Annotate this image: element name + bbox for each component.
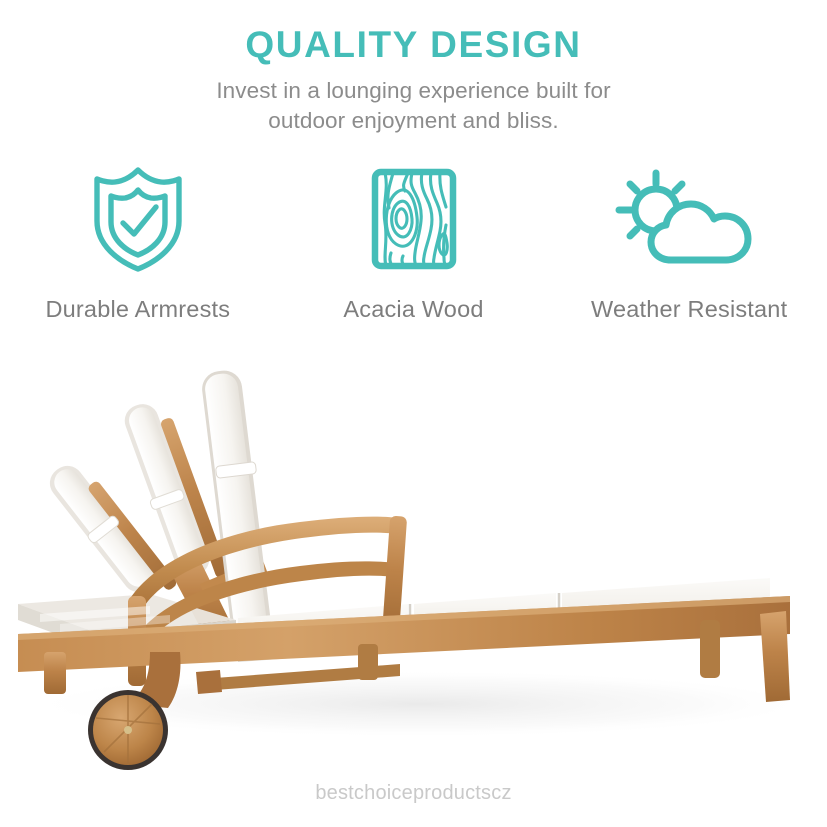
leg-front-left (44, 652, 66, 694)
feature-label-acacia-wood: Acacia Wood (343, 296, 483, 323)
subtitle-line-1: Invest in a lounging experience built fo… (216, 78, 610, 103)
wood-grain-icon (360, 163, 468, 275)
brand-watermark: bestchoiceproductscz (0, 782, 827, 805)
feature-item-weather-resistant: Weather Resistant (551, 163, 827, 323)
footer-block: bestchoiceproductscz (0, 782, 827, 805)
page-subtitle: Invest in a lounging experience built fo… (0, 76, 827, 135)
sun-cloud-icon (609, 163, 769, 275)
leg-rear-inner (700, 620, 720, 678)
feature-label-durable-armrests: Durable Armrests (45, 296, 230, 323)
feature-label-weather-resistant: Weather Resistant (591, 296, 787, 323)
shield-check-icon (86, 163, 190, 275)
feature-list: Durable Armrests (0, 163, 827, 323)
product-image (0, 352, 827, 782)
feature-item-durable-armrests: Durable Armrests (0, 163, 276, 323)
page-title: QUALITY DESIGN (0, 26, 827, 65)
subtitle-line-2: outdoor enjoyment and bliss. (268, 108, 558, 133)
wheel-hub (124, 726, 132, 734)
product-feature-card: QUALITY DESIGN Invest in a lounging expe… (0, 0, 827, 827)
header-block: QUALITY DESIGN Invest in a lounging expe… (0, 26, 827, 135)
feature-item-acacia-wood: Acacia Wood (276, 163, 552, 323)
